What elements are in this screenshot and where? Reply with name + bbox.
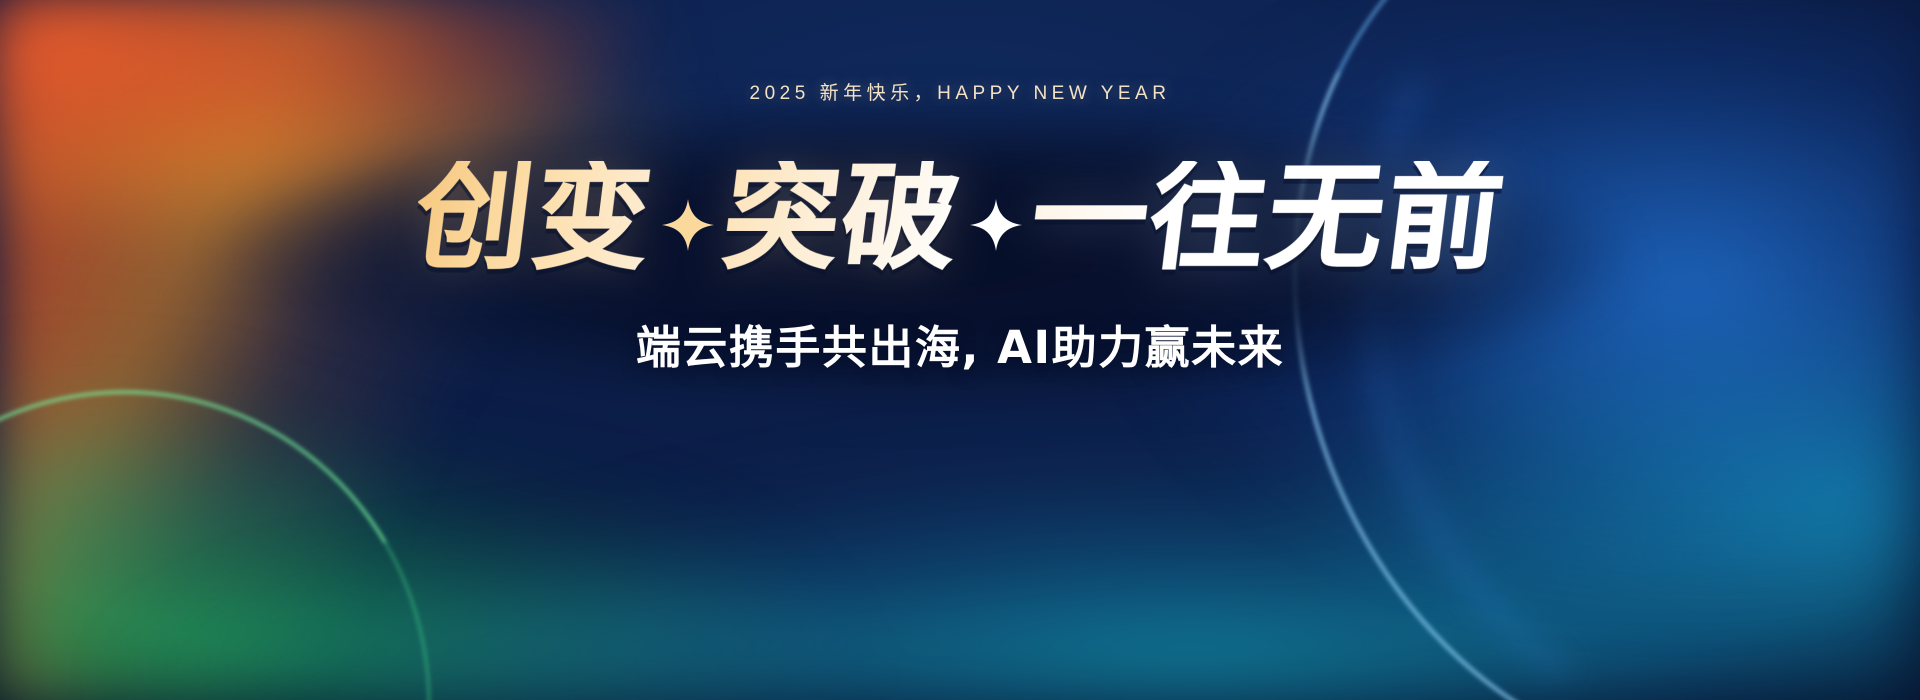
new-year-banner: 2025 新年快乐，HAPPY NEW YEAR 创变 突破 一往无前 端云携手… (0, 0, 1920, 700)
headline-segment-yiwangwuqian: 一往无前 (1025, 161, 1511, 277)
banner-content: 2025 新年快乐，HAPPY NEW YEAR 创变 突破 一往无前 端云携手… (0, 0, 1920, 700)
sparkle-icon (662, 199, 714, 251)
banner-headline: 创变 突破 一往无前 (416, 161, 1504, 277)
sparkle-icon (970, 199, 1022, 251)
headline-segment-tupo: 突破 (717, 161, 967, 277)
banner-tagline: 2025 新年快乐，HAPPY NEW YEAR (750, 78, 1171, 105)
banner-subtitle: 端云携手共出海, AI助力赢未来 (636, 311, 1284, 376)
headline-segment-chuangbian: 创变 (409, 161, 659, 277)
